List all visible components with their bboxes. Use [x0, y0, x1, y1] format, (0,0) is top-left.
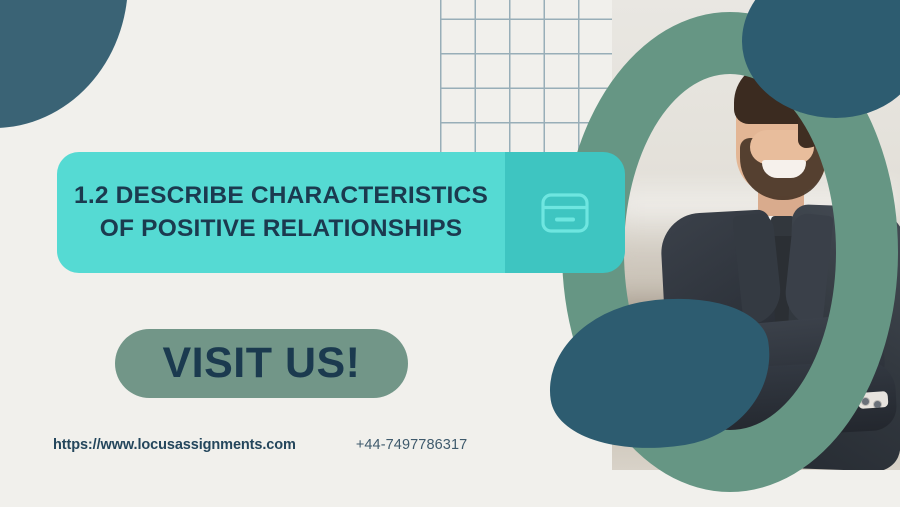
phone-number[interactable]: +44-7497786317 — [356, 437, 467, 453]
page-title-line-2: OF POSITIVE RELATIONSHIPS — [74, 213, 488, 245]
promo-banner-canvas: 1.2 DESCRIBE CHARACTERISTICS OF POSITIVE… — [0, 0, 900, 507]
footer-contact: https://www.locusassignments.com +44-749… — [53, 437, 467, 453]
visit-us-button[interactable]: VISIT US! — [115, 329, 408, 398]
corner-quarter-circle-shape — [0, 0, 128, 128]
figure-sleeve-button-5 — [874, 401, 881, 408]
title-banner-text-panel: 1.2 DESCRIBE CHARACTERISTICS OF POSITIVE… — [57, 152, 505, 273]
card-window-icon — [537, 185, 593, 241]
title-banner: 1.2 DESCRIBE CHARACTERISTICS OF POSITIVE… — [57, 152, 625, 273]
page-title-line-1: 1.2 DESCRIBE CHARACTERISTICS — [74, 182, 488, 209]
page-title: 1.2 DESCRIBE CHARACTERISTICS OF POSITIVE… — [64, 180, 498, 245]
figure-sleeve-button-4 — [862, 398, 869, 405]
website-link[interactable]: https://www.locusassignments.com — [53, 437, 296, 453]
title-banner-icon-panel — [505, 152, 625, 273]
